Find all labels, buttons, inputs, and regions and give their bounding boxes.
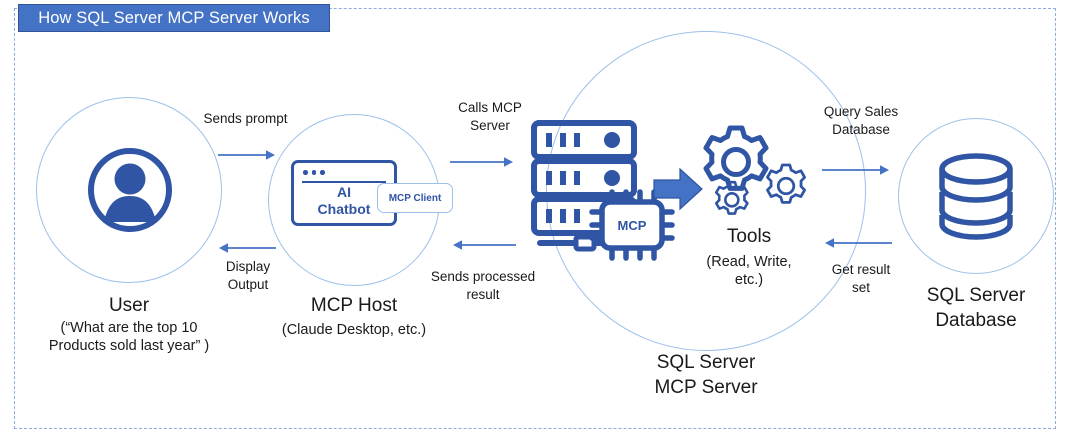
mcp-host-subcaption: (Claude Desktop, etc.) bbox=[258, 322, 450, 339]
flow-query-sales-line2: Database bbox=[800, 122, 922, 138]
gears-icon bbox=[694, 120, 804, 230]
database-cylinder-icon bbox=[930, 150, 1022, 242]
flow-sends-prompt-label: Sends prompt bbox=[183, 111, 308, 127]
flow-display-output-arrow bbox=[218, 241, 278, 255]
window-rule bbox=[302, 181, 386, 183]
user-subcaption-line1: (“What are the top 10 bbox=[16, 320, 242, 337]
database-caption-line1: SQL Server bbox=[896, 285, 1056, 308]
mcp-server-caption-line1: SQL Server bbox=[566, 352, 846, 375]
flow-query-sales-line1: Query Sales bbox=[800, 104, 922, 120]
diagram-canvas: How SQL Server MCP Server Works User (“W… bbox=[0, 0, 1068, 437]
user-avatar-icon bbox=[88, 148, 172, 232]
tools-caption: Tools bbox=[686, 226, 812, 249]
page-title: How SQL Server MCP Server Works bbox=[38, 9, 309, 28]
user-caption: User bbox=[36, 295, 222, 318]
flow-calls-mcp-line1: Calls MCP bbox=[432, 100, 548, 116]
user-subcaption-line2: Products sold last year” ) bbox=[16, 338, 242, 355]
flow-display-output-line1: Display bbox=[193, 259, 303, 275]
flow-sends-processed-arrow bbox=[450, 238, 520, 252]
mcp-chip-label: MCP bbox=[605, 218, 659, 233]
mcp-client-badge: MCP Client bbox=[377, 183, 453, 213]
flow-calls-mcp-arrow bbox=[450, 155, 520, 169]
flow-get-result-line1: Get result bbox=[800, 262, 922, 278]
flow-display-output-line2: Output bbox=[193, 277, 303, 293]
mcp-server-caption-line2: MCP Server bbox=[566, 377, 846, 400]
flow-get-result-arrow bbox=[822, 236, 898, 250]
flow-sends-processed-line1: Sends processed bbox=[415, 269, 551, 285]
diagram-title-bar: How SQL Server MCP Server Works bbox=[18, 4, 330, 32]
window-dots-icon bbox=[303, 170, 325, 175]
flow-sends-prompt-arrow bbox=[218, 148, 278, 162]
flow-query-sales-arrow bbox=[822, 163, 898, 177]
database-caption-line2: Database bbox=[896, 310, 1056, 333]
flow-sends-processed-line2: result bbox=[415, 287, 551, 303]
